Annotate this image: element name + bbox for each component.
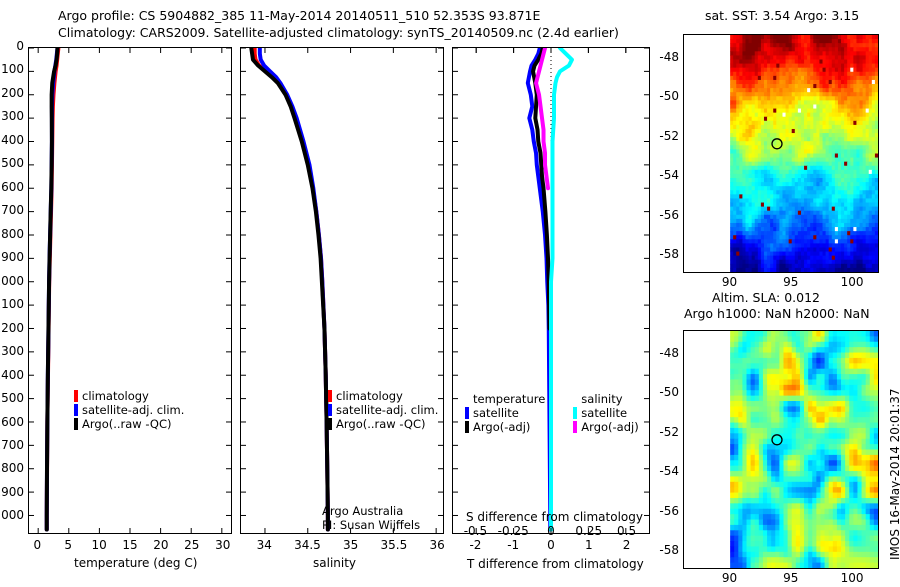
- sla-map-yticks: -48-50-52-54-56-58: [650, 330, 683, 569]
- sla-pixel: [767, 385, 772, 391]
- sla-pixel: [783, 541, 788, 547]
- sla-pixel: [783, 557, 788, 563]
- sla-pixel: [804, 563, 809, 568]
- sla-pixel: [779, 482, 784, 488]
- sla-pixel: [845, 433, 850, 439]
- sla-pixel: [804, 546, 809, 552]
- sla-pixel: [788, 450, 793, 456]
- sla-pixel: [759, 530, 764, 536]
- sla-pixel: [841, 331, 846, 337]
- sla-pixel: [837, 552, 842, 558]
- sla-pixel: [788, 428, 793, 434]
- sla-pixel: [857, 347, 862, 353]
- sla-pixel: [796, 455, 801, 461]
- sla-pixel: [833, 374, 838, 380]
- sla-pixel: [812, 466, 817, 472]
- sla-pixel: [845, 369, 850, 375]
- sla-pixel: [771, 525, 776, 531]
- sla-pixel: [796, 374, 801, 380]
- sla-pixel: [796, 498, 801, 504]
- sla-pixel: [747, 557, 752, 563]
- sla-pixel: [837, 509, 842, 515]
- sla-pixel: [874, 476, 878, 482]
- sla-pixel: [837, 444, 842, 450]
- sla-pixel: [849, 546, 854, 552]
- sla-pixel: [853, 503, 858, 509]
- sla-pixel: [738, 417, 743, 423]
- sla-pixel: [779, 450, 784, 456]
- sla-pixel: [730, 546, 735, 552]
- sla-pixel: [825, 525, 830, 531]
- sla-pixel: [866, 487, 871, 493]
- sla-pixel: [841, 536, 846, 542]
- sla-pixel: [751, 423, 756, 429]
- sla-pixel: [742, 460, 747, 466]
- sst-map-blank-region: [684, 35, 730, 272]
- sla-pixel: [862, 503, 867, 509]
- sla-pixel: [837, 536, 842, 542]
- sla-pixel: [837, 336, 842, 342]
- sla-pixel: [829, 514, 834, 520]
- sla-pixel: [800, 412, 805, 418]
- sla-pixel: [816, 374, 821, 380]
- sla-pixel: [800, 541, 805, 547]
- sla-pixel: [730, 439, 735, 445]
- sla-pixel: [738, 439, 743, 445]
- sla-pixel: [808, 390, 813, 396]
- sla-pixel: [771, 401, 776, 407]
- axis-tick-label: 0: [33, 538, 41, 552]
- sla-pixel: [763, 509, 768, 515]
- sla-pixel: [874, 331, 878, 337]
- sla-pixel: [862, 401, 867, 407]
- sla-pixel: [845, 563, 850, 568]
- sla-pixel: [767, 401, 772, 407]
- sst-pixel: [875, 256, 878, 261]
- sla-pixel: [849, 439, 854, 445]
- sla-pixel: [796, 493, 801, 499]
- sla-pixel: [874, 487, 878, 493]
- sla-pixel: [734, 530, 739, 536]
- legend-swatch-temp-argo: [465, 421, 469, 433]
- sla-pixel: [820, 476, 825, 482]
- sla-pixel: [771, 358, 776, 364]
- sla-pixel: [771, 455, 776, 461]
- sla-pixel: [767, 369, 772, 375]
- sla-pixel: [800, 450, 805, 456]
- sla-pixel: [783, 358, 788, 364]
- sla-pixel: [833, 498, 838, 504]
- sla-pixel: [866, 406, 871, 412]
- sla-pixel: [796, 503, 801, 509]
- map-lat-tick-label: -54: [659, 168, 679, 182]
- sla-pixel: [751, 369, 756, 375]
- sla-pixel: [845, 514, 850, 520]
- sla-pixel: [862, 439, 867, 445]
- sla-pixel: [874, 455, 878, 461]
- sla-pixel: [870, 417, 875, 423]
- sla-pixel: [734, 428, 739, 434]
- sla-pixel: [742, 347, 747, 353]
- sla-pixel: [800, 557, 805, 563]
- sla-pixel: [849, 552, 854, 558]
- sla-pixel: [812, 563, 817, 568]
- sla-pixel: [820, 530, 825, 536]
- axis-tick-label: 5: [64, 538, 72, 552]
- argo-australia-credit: Argo Australia PI: Susan Wijffels: [322, 504, 420, 532]
- sla-pixel: [738, 450, 743, 456]
- sla-pixel: [833, 347, 838, 353]
- sla-pixel: [751, 428, 756, 434]
- sla-pixel: [808, 487, 813, 493]
- sla-pixel: [796, 482, 801, 488]
- axis-tick-label: 35: [343, 538, 358, 552]
- temperature-axis-label: temperature (deg C): [74, 556, 197, 570]
- sla-pixel: [742, 509, 747, 515]
- sla-pixel: [775, 396, 780, 402]
- axis-tick-label: 2: [623, 538, 631, 552]
- sla-pixel: [825, 530, 830, 536]
- sst-pixel: [875, 117, 878, 122]
- sla-pixel: [738, 546, 743, 552]
- sla-pixel: [853, 536, 858, 542]
- sla-pixel: [788, 385, 793, 391]
- sla-pixel: [767, 331, 772, 337]
- sla-pixel: [759, 563, 764, 568]
- sla-pixel: [857, 433, 862, 439]
- sla-pixel: [812, 520, 817, 526]
- sla-pixel: [800, 552, 805, 558]
- sla-pixel: [734, 536, 739, 542]
- sla-pixel: [800, 363, 805, 369]
- sla-pixel: [833, 466, 838, 472]
- sla-pixel: [837, 563, 842, 568]
- sla-pixel: [800, 353, 805, 359]
- sla-pixel: [775, 358, 780, 364]
- imos-timestamp-watermark: IMOS 16-May-2014 20:01:37: [888, 388, 900, 560]
- sla-pixel: [792, 444, 797, 450]
- sst-map-raster: [684, 35, 878, 272]
- sla-pixel: [829, 460, 834, 466]
- sla-pixel: [738, 342, 743, 348]
- sla-map-header-line-1: Altim. SLA: 0.012: [712, 290, 820, 305]
- sla-pixel: [763, 439, 768, 445]
- sla-pixel: [779, 466, 784, 472]
- sla-pixel: [783, 417, 788, 423]
- sst-pixel: [875, 133, 878, 138]
- sla-pixel: [796, 342, 801, 348]
- sla-pixel: [783, 374, 788, 380]
- sla-pixel: [857, 552, 862, 558]
- sla-pixel: [747, 509, 752, 515]
- sla-pixel: [829, 557, 834, 563]
- legend-label: Argo(-adj): [473, 420, 530, 434]
- sla-pixel: [730, 503, 735, 509]
- sla-pixel: [837, 412, 842, 418]
- sla-pixel: [845, 390, 850, 396]
- sla-pixel: [853, 471, 858, 477]
- sla-pixel: [841, 439, 846, 445]
- sla-pixel: [742, 417, 747, 423]
- sla-pixel: [825, 433, 830, 439]
- sla-pixel: [841, 336, 846, 342]
- sla-pixel: [738, 444, 743, 450]
- sla-pixel: [808, 503, 813, 509]
- sla-pixel: [816, 406, 821, 412]
- sla-pixel: [738, 487, 743, 493]
- sla-pixel: [755, 471, 760, 477]
- sla-pixel: [800, 466, 805, 472]
- sla-pixel: [845, 455, 850, 461]
- sst-pixel: [875, 174, 878, 179]
- sla-pixel: [734, 552, 739, 558]
- sla-pixel: [788, 466, 793, 472]
- sla-pixel: [759, 331, 764, 337]
- sla-pixel: [763, 369, 768, 375]
- sla-pixel: [870, 557, 875, 563]
- sla-pixel: [755, 374, 760, 380]
- sla-pixel: [751, 503, 756, 509]
- sla-pixel: [866, 433, 871, 439]
- sla-pixel: [747, 390, 752, 396]
- sla-pixel: [779, 412, 784, 418]
- sla-pixel: [804, 401, 809, 407]
- sla-pixel: [775, 401, 780, 407]
- sla-pixel: [816, 471, 821, 477]
- sla-pixel: [783, 390, 788, 396]
- sla-pixel: [751, 493, 756, 499]
- depth-tick-label: 1300: [0, 344, 24, 358]
- sla-pixel: [837, 342, 842, 348]
- sla-pixel: [874, 347, 878, 353]
- sla-pixel: [874, 379, 878, 385]
- sla-pixel: [730, 487, 735, 493]
- sla-pixel: [779, 396, 784, 402]
- sla-pixel: [788, 541, 793, 547]
- sla-pixel: [751, 525, 756, 531]
- sla-pixel: [808, 557, 813, 563]
- sla-pixel: [747, 444, 752, 450]
- sla-pixel: [742, 557, 747, 563]
- sla-pixel: [755, 460, 760, 466]
- difference-axis-label-top: S difference from climatology: [466, 510, 643, 524]
- sla-pixel: [792, 401, 797, 407]
- sst-map-yticks: -48-50-52-54-56-58: [650, 34, 683, 273]
- sla-pixel: [825, 450, 830, 456]
- sla-pixel: [845, 439, 850, 445]
- sla-pixel: [825, 342, 830, 348]
- sla-pixel: [730, 557, 735, 563]
- sst-pixel: [875, 203, 878, 208]
- sla-pixel: [759, 353, 764, 359]
- sla-pixel: [866, 525, 871, 531]
- sla-pixel: [841, 503, 846, 509]
- sla-pixel: [853, 466, 858, 472]
- sla-pixel: [857, 428, 862, 434]
- sla-pixel: [825, 439, 830, 445]
- sla-pixel: [841, 406, 846, 412]
- sla-pixel: [866, 455, 871, 461]
- sla-pixel: [812, 433, 817, 439]
- sla-pixel: [738, 331, 743, 337]
- sla-pixel: [829, 444, 834, 450]
- sla-pixel: [779, 374, 784, 380]
- sla-pixel: [841, 546, 846, 552]
- sla-pixel: [829, 520, 834, 526]
- sla-pixel: [866, 423, 871, 429]
- sla-pixel: [816, 358, 821, 364]
- sla-pixel: [833, 444, 838, 450]
- sla-pixel: [820, 412, 825, 418]
- sla-pixel: [788, 433, 793, 439]
- sla-pixel: [738, 460, 743, 466]
- legend-label: satellite: [581, 406, 627, 420]
- sla-pixel: [779, 358, 784, 364]
- sla-pixel: [755, 444, 760, 450]
- sla-pixel: [857, 509, 862, 515]
- sla-pixel: [763, 514, 768, 520]
- legend-swatch-climatology: [74, 390, 78, 402]
- sla-pixel: [812, 482, 817, 488]
- sla-pixel: [779, 428, 784, 434]
- sla-pixel: [763, 433, 768, 439]
- sla-pixel: [849, 374, 854, 380]
- sla-pixel: [853, 336, 858, 342]
- legend-label: climatology: [336, 389, 403, 403]
- sla-pixel: [730, 385, 735, 391]
- sla-pixel: [767, 374, 772, 380]
- sla-pixel: [730, 406, 735, 412]
- sla-pixel: [734, 423, 739, 429]
- sla-pixel: [862, 412, 867, 418]
- sla-pixel: [841, 552, 846, 558]
- sla-pixel: [841, 396, 846, 402]
- sla-pixel: [775, 390, 780, 396]
- sla-pixel: [763, 493, 768, 499]
- sla-pixel: [800, 369, 805, 375]
- sla-pixel: [849, 557, 854, 563]
- sla-pixel: [837, 520, 842, 526]
- depth-tick-label: 500: [1, 156, 24, 170]
- sst-pixel: [875, 84, 878, 89]
- temperature-depth-ticks: 0100200300400500600700800900100011001200…: [0, 47, 28, 534]
- sla-pixel: [747, 460, 752, 466]
- sst-pixel: [875, 43, 878, 48]
- sla-pixel: [804, 552, 809, 558]
- sla-pixel: [779, 423, 784, 429]
- sla-pixel: [800, 331, 805, 337]
- sla-pixel: [767, 439, 772, 445]
- sla-pixel: [866, 444, 871, 450]
- sla-pixel: [812, 546, 817, 552]
- sla-pixel: [742, 541, 747, 547]
- legend-label: Argo(..raw -QC): [82, 417, 172, 431]
- sla-pixel: [759, 423, 764, 429]
- sla-pixel: [804, 396, 809, 402]
- sla-pixel: [866, 358, 871, 364]
- sla-pixel: [820, 406, 825, 412]
- depth-tick-label: 1800: [0, 461, 24, 475]
- sla-pixel: [820, 450, 825, 456]
- sla-pixel: [804, 498, 809, 504]
- sla-pixel: [771, 423, 776, 429]
- sla-pixel: [812, 331, 817, 337]
- sla-pixel: [759, 493, 764, 499]
- sla-pixel: [845, 493, 850, 499]
- sla-pixel: [870, 520, 875, 526]
- sla-pixel: [870, 406, 875, 412]
- sla-pixel: [738, 536, 743, 542]
- sla-pixel: [783, 525, 788, 531]
- sla-pixel: [759, 552, 764, 558]
- sla-pixel: [833, 342, 838, 348]
- sla-pixel: [767, 520, 772, 526]
- sla-pixel: [730, 563, 735, 568]
- sla-pixel: [849, 347, 854, 353]
- sst-pixel: [875, 166, 878, 171]
- sla-pixel: [771, 536, 776, 542]
- sla-pixel: [742, 536, 747, 542]
- sla-pixel: [775, 498, 780, 504]
- sla-pixel: [866, 439, 871, 445]
- sla-pixel: [849, 444, 854, 450]
- sla-pixel: [853, 520, 858, 526]
- sla-pixel: [788, 525, 793, 531]
- sla-pixel: [870, 546, 875, 552]
- sla-pixel: [833, 369, 838, 375]
- sla-pixel: [870, 460, 875, 466]
- sla-pixel: [788, 423, 793, 429]
- sla-pixel: [767, 552, 772, 558]
- sla-pixel: [816, 525, 821, 531]
- sla-pixel: [747, 476, 752, 482]
- sla-pixel: [833, 520, 838, 526]
- sla-pixel: [742, 353, 747, 359]
- sla-pixel: [837, 417, 842, 423]
- sla-pixel: [783, 563, 788, 568]
- sla-pixel: [833, 336, 838, 342]
- sla-pixel: [738, 482, 743, 488]
- sla-pixel: [763, 379, 768, 385]
- sla-pixel: [771, 493, 776, 499]
- sst-pixel: [875, 113, 878, 118]
- map-lat-tick-label: -52: [659, 425, 679, 439]
- sla-pixel: [853, 412, 858, 418]
- sla-pixel: [779, 342, 784, 348]
- sla-pixel: [792, 406, 797, 412]
- sla-pixel: [870, 390, 875, 396]
- sla-pixel: [820, 401, 825, 407]
- sla-pixel: [866, 450, 871, 456]
- sla-pixel: [800, 525, 805, 531]
- sla-pixel: [775, 353, 780, 359]
- sla-pixel: [779, 401, 784, 407]
- sla-pixel: [833, 331, 838, 337]
- sla-pixel: [751, 390, 756, 396]
- sla-pixel: [788, 520, 793, 526]
- sla-pixel: [755, 493, 760, 499]
- sla-pixel: [742, 493, 747, 499]
- sla-pixel: [808, 482, 813, 488]
- sla-pixel: [841, 423, 846, 429]
- sla-pixel: [829, 498, 834, 504]
- sla-pixel: [751, 401, 756, 407]
- sla-pixel: [747, 546, 752, 552]
- sla-pixel: [866, 385, 871, 391]
- sla-pixel: [730, 514, 735, 520]
- sla-pixel: [763, 423, 768, 429]
- sst-pixel: [875, 186, 878, 191]
